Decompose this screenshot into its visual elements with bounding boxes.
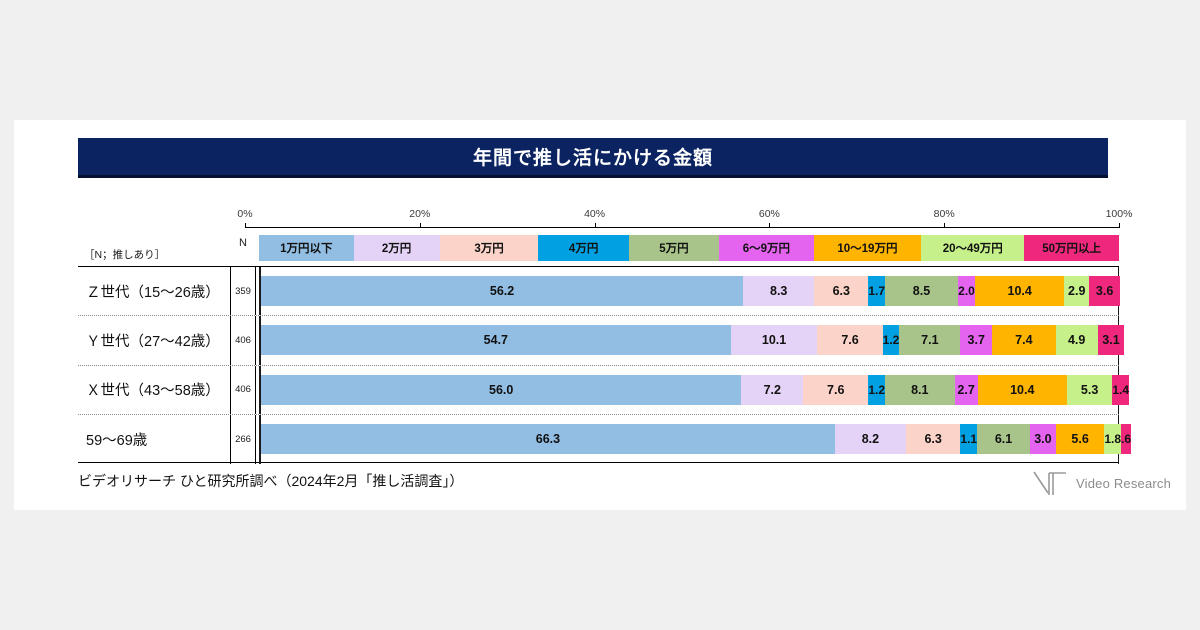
bar-segment-value: 8.3	[770, 284, 787, 298]
bar-segment-value: 3.1	[1102, 333, 1119, 347]
bar-segment-value: 10.4	[1008, 284, 1032, 298]
bar-segment[interactable]: 7.4	[992, 325, 1056, 355]
bar-segment[interactable]: 1.4	[1112, 375, 1129, 405]
bar-segment[interactable]: 6.3	[814, 276, 868, 306]
bar-segment[interactable]: 3.1	[1098, 325, 1125, 355]
bar-segment[interactable]: 1.2	[883, 325, 900, 355]
table-header-row: ［N；推しあり］ N 1万円以下2万円3万円4万円5万円6〜9万円10〜19万円…	[78, 228, 1119, 266]
x-axis-tick-labels: 0%20%40%60%80%100%	[245, 208, 1119, 224]
bar-segment-value: 2.7	[957, 383, 974, 397]
chart-card: 年間で推し活にかける金額 0%20%40%60%80%100% ［N；推しあり］…	[14, 120, 1186, 510]
logo-text: Video Research	[1076, 476, 1171, 491]
bar-segment[interactable]: 3.7	[960, 325, 992, 355]
bar-segment[interactable]: 8.5	[885, 276, 958, 306]
bar-segment[interactable]: 2.0	[958, 276, 975, 306]
bar-segment-value: 2.0	[958, 284, 975, 298]
bar-segment-value: 7.6	[841, 333, 858, 347]
bar-segment[interactable]: 8.1	[885, 375, 954, 405]
legend-item[interactable]: 6〜9万円	[719, 235, 814, 261]
x-axis-tick-label: 80%	[934, 208, 955, 220]
bar-segment[interactable]: 2.9	[1064, 276, 1089, 306]
bar-segment-value: 56.0	[489, 383, 513, 397]
chart-rows: Ｚ世代（15〜26歳）35956.28.36.31.78.52.010.42.9…	[78, 266, 1119, 463]
table-row: Ｚ世代（15〜26歳）35956.28.36.31.78.52.010.42.9…	[78, 267, 1119, 316]
legend-item-label: 4万円	[569, 240, 598, 256]
legend-item-label: 5万円	[659, 240, 688, 256]
bar-segment[interactable]: 5.6	[1056, 424, 1104, 454]
bar-segment-value: .6	[1121, 432, 1131, 446]
legend-item[interactable]: 50万円以上	[1024, 235, 1119, 261]
bar-segment-value: 5.6	[1071, 432, 1088, 446]
bar-segment[interactable]: 56.0	[261, 375, 741, 405]
bar-segment[interactable]: 8.2	[835, 424, 906, 454]
bar-segment[interactable]: 10.4	[975, 276, 1064, 306]
bar-segment-value: 3.6	[1096, 284, 1113, 298]
bar-segment[interactable]: 7.6	[803, 375, 868, 405]
chart-legend: 1万円以下2万円3万円4万円5万円6〜9万円10〜19万円20〜49万円50万円…	[259, 235, 1119, 261]
legend-item-label: 6〜9万円	[743, 240, 790, 256]
legend-item[interactable]: 10〜19万円	[814, 235, 922, 261]
bar-segment-value: 1.1	[960, 432, 977, 446]
bar-segment[interactable]: 54.7	[261, 325, 731, 355]
bar-segment[interactable]: 6.3	[906, 424, 961, 454]
bar-segment-value: 1.4	[1112, 383, 1129, 397]
chart-grid: ［N；推しあり］ N 1万円以下2万円3万円4万円5万円6〜9万円10〜19万円…	[78, 228, 1119, 463]
row-n-value: 406	[230, 316, 256, 364]
source-note: ビデオリサーチ ひと研究所調べ（2024年2月「推し活調査」）	[78, 471, 463, 491]
legend-item-label: 2万円	[382, 240, 411, 256]
bar-segment-value: 10.4	[1010, 383, 1034, 397]
bar-segment-value: 1.8	[1104, 432, 1121, 446]
chart-title-bar: 年間で推し活にかける金額	[78, 138, 1108, 178]
bar-segment[interactable]: 1.1	[960, 424, 977, 454]
legend-item-label: 1万円以下	[280, 240, 332, 256]
bar-segment[interactable]: 3.6	[1089, 276, 1120, 306]
row-label-column	[78, 228, 230, 463]
bar-segment[interactable]: 1.7	[868, 276, 885, 306]
bar-segment[interactable]: .6	[1121, 424, 1131, 454]
legend-item-label: 50万円以上	[1042, 240, 1101, 256]
bar-segment[interactable]: 7.2	[741, 375, 803, 405]
stacked-bar: 66.38.26.31.16.13.05.61.8.6	[259, 415, 1119, 464]
n-column-header: N	[230, 237, 256, 249]
stacked-bar-inner: 54.710.17.61.27.13.77.44.93.1	[261, 325, 1118, 355]
bar-segment-value: 1.7	[868, 284, 885, 298]
table-row: 59〜69歳26666.38.26.31.16.13.05.61.8.6	[78, 415, 1119, 464]
row-n-value: 266	[230, 415, 256, 464]
legend-item-label: 3万円	[474, 240, 503, 256]
bar-segment[interactable]: 56.2	[261, 276, 743, 306]
row-n-value: 359	[230, 267, 256, 315]
bar-segment-value: 7.1	[921, 333, 938, 347]
logo-mark-icon	[1032, 469, 1074, 497]
stacked-bar-inner: 56.28.36.31.78.52.010.42.93.6	[261, 276, 1118, 306]
bar-segment-value: 4.9	[1068, 333, 1085, 347]
legend-item-label: 20〜49万円	[943, 240, 1003, 256]
bar-segment-value: 8.1	[911, 383, 928, 397]
legend-item[interactable]: 2万円	[354, 235, 440, 261]
bar-segment-value: 1.2	[883, 333, 900, 347]
bar-segment[interactable]: 7.6	[817, 325, 882, 355]
legend-item[interactable]: 20〜49万円	[921, 235, 1024, 261]
x-axis-tick-label: 100%	[1106, 208, 1133, 220]
bar-segment-value: 8.2	[862, 432, 879, 446]
bar-segment-value: 5.3	[1081, 383, 1098, 397]
bar-segment[interactable]: 5.3	[1067, 375, 1112, 405]
table-row: Ｙ世代（27〜42歳）40654.710.17.61.27.13.77.44.9…	[78, 316, 1119, 365]
video-research-logo: Video Research	[1032, 468, 1182, 498]
stacked-bar: 56.28.36.31.78.52.010.42.93.6	[259, 267, 1119, 315]
legend-item-label: 10〜19万円	[837, 240, 897, 256]
legend-item[interactable]: 4万円	[538, 235, 628, 261]
bar-segment-value: 6.3	[833, 284, 850, 298]
x-axis-tick-label: 60%	[759, 208, 780, 220]
bar-segment-value: 54.7	[484, 333, 508, 347]
bar-segment[interactable]: 10.4	[978, 375, 1067, 405]
page-title: 年間で推し活にかける金額	[473, 143, 713, 170]
stacked-bar-inner: 66.38.26.31.16.13.05.61.8.6	[261, 424, 1118, 454]
bar-segment[interactable]: 8.3	[743, 276, 814, 306]
x-axis-tick-mark	[1119, 223, 1120, 228]
bar-segment-value: 2.9	[1068, 284, 1085, 298]
bar-segment-value: 3.0	[1034, 432, 1051, 446]
x-axis-tick-label: 20%	[409, 208, 430, 220]
x-axis-tick-label: 0%	[237, 208, 252, 220]
bar-segment-value: 10.1	[762, 333, 786, 347]
bar-segment[interactable]: 7.1	[899, 325, 960, 355]
bar-segment-value: 1.2	[868, 383, 885, 397]
bar-segment[interactable]: 1.2	[868, 375, 885, 405]
legend-item[interactable]: 1万円以下	[259, 235, 354, 261]
bar-segment-value: 7.2	[764, 383, 781, 397]
bar-segment-value: 8.5	[913, 284, 930, 298]
table-row: Ｘ世代（43〜58歳）40656.07.27.61.28.12.710.45.3…	[78, 366, 1119, 415]
x-axis-tick-label: 40%	[584, 208, 605, 220]
stacked-bar: 56.07.27.61.28.12.710.45.31.4	[259, 366, 1119, 414]
bar-segment-value: 7.6	[827, 383, 844, 397]
bar-segment[interactable]: 3.0	[1030, 424, 1056, 454]
bar-segment[interactable]: 4.9	[1056, 325, 1098, 355]
bar-segment-value: 56.2	[490, 284, 514, 298]
bar-segment[interactable]: 1.8	[1104, 424, 1121, 454]
bar-segment[interactable]: 10.1	[731, 325, 818, 355]
bar-segment[interactable]: 2.7	[955, 375, 978, 405]
bar-segment-value: 7.4	[1015, 333, 1032, 347]
bar-segment-value: 3.7	[968, 333, 985, 347]
stacked-bar: 54.710.17.61.27.13.77.44.93.1	[259, 316, 1119, 364]
bar-segment-value: 6.1	[995, 432, 1012, 446]
bar-segment[interactable]: 66.3	[261, 424, 835, 454]
bar-segment-value: 66.3	[536, 432, 560, 446]
row-n-value: 406	[230, 366, 256, 414]
stacked-bar-inner: 56.07.27.61.28.12.710.45.31.4	[261, 375, 1118, 405]
bar-segment[interactable]: 6.1	[977, 424, 1030, 454]
legend-item[interactable]: 5万円	[629, 235, 719, 261]
bar-segment-value: 6.3	[924, 432, 941, 446]
legend-item[interactable]: 3万円	[440, 235, 539, 261]
